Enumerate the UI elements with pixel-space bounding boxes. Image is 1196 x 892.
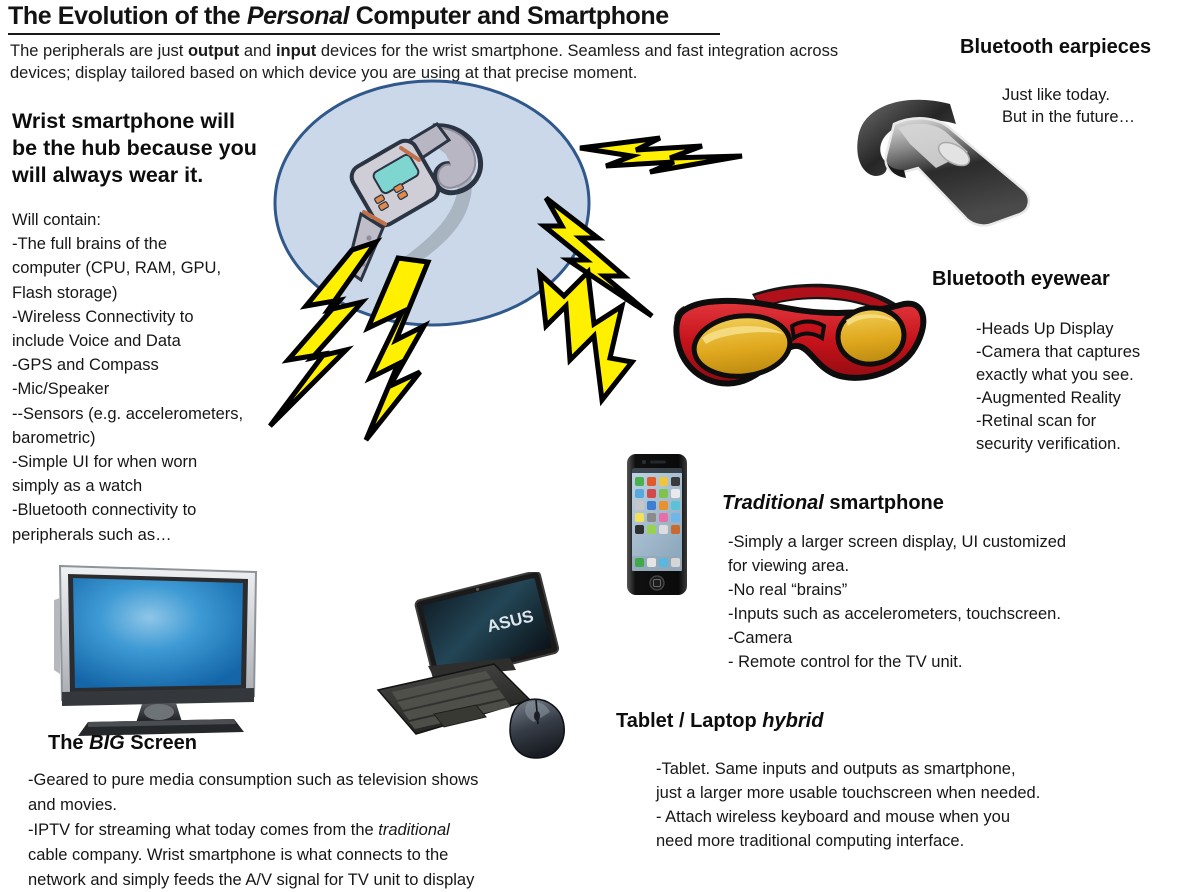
traditional-smartphone-body: -Simply a larger screen display, UI cust… <box>728 530 1066 674</box>
bolt-to-tv <box>270 242 376 426</box>
hybrid-heading-rest: Tablet / Laptop <box>616 710 762 732</box>
eyewear-line-0: -Heads Up Display <box>976 318 1140 341</box>
hub-list-item-13: peripherals such as… <box>12 523 278 547</box>
hub-list-item-8: --Sensors (e.g. accelerometers, <box>12 402 278 426</box>
big-heading-post: Screen <box>125 732 197 754</box>
hub-heading-line-1: be the hub because you <box>12 135 292 162</box>
hub-list-item-11: simply as a watch <box>12 474 278 498</box>
big-line-4: network and simply feeds the A/V signal … <box>28 868 478 892</box>
eyewear-heading: Bluetooth eyewear <box>932 268 1110 291</box>
hub-list-item-9: barometric) <box>12 426 278 450</box>
hub-list-item-3: Flash storage) <box>12 281 278 305</box>
hub-heading: Wrist smartphone will be the hub because… <box>12 108 292 189</box>
hub-list-item-10: -Simple UI for when worn <box>12 450 278 474</box>
big-line-3: cable company. Wrist smartphone is what … <box>28 843 478 868</box>
infographic-canvas: The Evolution of the Personal Computer a… <box>0 0 1196 892</box>
bolt-to-earpiece <box>580 138 742 172</box>
earpieces-line-1: But in the future… <box>1002 106 1135 128</box>
title-part2: Computer and Smartphone <box>349 2 669 30</box>
hub-list-item-7: -Mic/Speaker <box>12 377 278 401</box>
title-emphasis: Personal <box>247 2 349 30</box>
hybrid-line-3: need more traditional computing interfac… <box>656 829 1040 853</box>
trad-line-0: -Simply a larger screen display, UI cust… <box>728 530 1066 554</box>
big-line-2-text: -IPTV for streaming what today comes fro… <box>28 821 378 839</box>
big-screen-heading: The BIG Screen <box>48 732 197 755</box>
hub-heading-line-0: Wrist smartphone will <box>12 108 292 135</box>
earpieces-line-0: Just like today. <box>1002 84 1135 106</box>
trad-line-1: for viewing area. <box>728 554 1066 578</box>
subtitle-seg1: The peripherals are just <box>10 42 188 60</box>
tablet-laptop-hybrid-icon: ASUS <box>372 572 584 767</box>
hub-list-item-2: computer (CPU, RAM, GPU, <box>12 256 278 280</box>
hub-list-item-6: -GPS and Compass <box>12 353 278 377</box>
big-screen-body: -Geared to pure media consumption such a… <box>28 768 478 892</box>
big-line-2: -IPTV for streaming what today comes fro… <box>28 818 478 843</box>
eyewear-line-2: exactly what you see. <box>976 364 1140 387</box>
title-divider <box>8 33 720 35</box>
page-title: The Evolution of the Personal Computer a… <box>8 2 738 31</box>
hub-list-item-12: -Bluetooth connectivity to <box>12 498 278 522</box>
hub-list-item-0: Will contain: <box>12 208 278 232</box>
trad-heading-rest: smartphone <box>824 492 944 514</box>
trad-heading-emphasis: Traditional <box>722 492 824 514</box>
hybrid-heading-emphasis: hybrid <box>762 710 823 732</box>
hub-list-item-4: -Wireless Connectivity to <box>12 305 278 329</box>
big-line-0: -Geared to pure media consumption such a… <box>28 768 478 793</box>
subtitle-seg2: and <box>239 42 276 60</box>
bluetooth-eyewear-sunglasses-icon <box>668 272 936 400</box>
hub-list-item-5: include Voice and Data <box>12 329 278 353</box>
subtitle-bold-input: input <box>276 42 316 60</box>
earpieces-heading: Bluetooth earpieces <box>960 36 1151 59</box>
big-heading-emphasis: BIG <box>89 732 125 754</box>
hybrid-line-1: just a larger more usable touchscreen wh… <box>656 781 1040 805</box>
traditional-smartphone-heading: Traditional smartphone <box>722 492 944 515</box>
title-part1: The Evolution of the <box>8 2 247 30</box>
subtitle-bold-output: output <box>188 42 239 60</box>
trad-line-5: - Remote control for the TV unit. <box>728 650 1066 674</box>
trad-line-2: -No real “brains” <box>728 578 1066 602</box>
trad-line-3: -Inputs such as accelerometers, touchscr… <box>728 602 1066 626</box>
eyewear-line-1: -Camera that captures <box>976 341 1140 364</box>
hybrid-line-0: -Tablet. Same inputs and outputs as smar… <box>656 757 1040 781</box>
hybrid-line-2: - Attach wireless keyboard and mouse whe… <box>656 805 1040 829</box>
big-screen-tv-icon <box>44 556 276 738</box>
earpieces-body: Just like today. But in the future… <box>1002 84 1135 128</box>
hybrid-heading: Tablet / Laptop hybrid <box>616 710 823 733</box>
big-heading-pre: The <box>48 732 89 754</box>
bolt-to-tablet <box>366 258 428 440</box>
big-line-2-italic: traditional <box>378 821 450 839</box>
eyewear-body: -Heads Up Display -Camera that captures … <box>976 318 1140 456</box>
eyewear-line-5: security verification. <box>976 433 1140 456</box>
hub-feature-list: Will contain: -The full brains of the co… <box>12 208 278 547</box>
eyewear-line-4: -Retinal scan for <box>976 410 1140 433</box>
hub-heading-line-2: will always wear it. <box>12 162 292 189</box>
hybrid-body: -Tablet. Same inputs and outputs as smar… <box>656 757 1040 853</box>
trad-line-4: -Camera <box>728 626 1066 650</box>
eyewear-line-3: -Augmented Reality <box>976 387 1140 410</box>
hub-list-item-1: -The full brains of the <box>12 232 278 256</box>
big-line-1: and movies. <box>28 793 478 818</box>
traditional-smartphone-icon <box>617 452 697 597</box>
